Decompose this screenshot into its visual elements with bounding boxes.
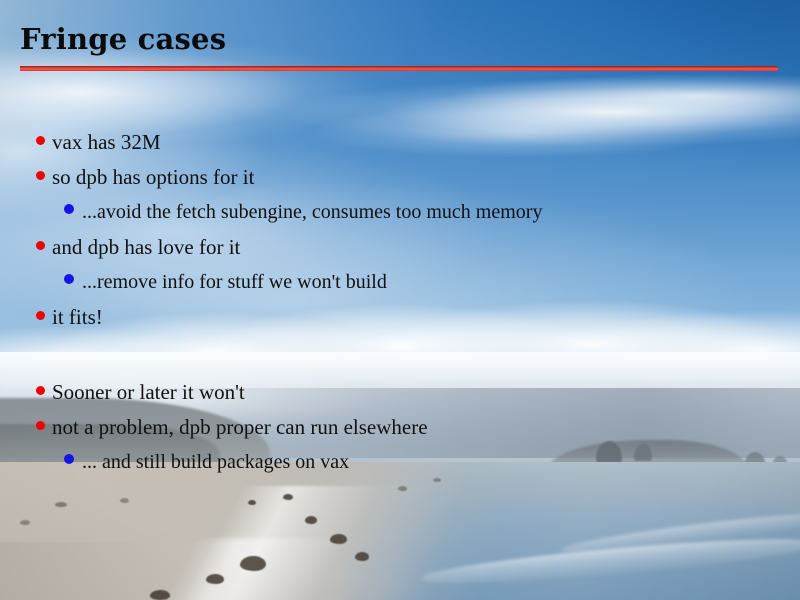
title-underline-rule (20, 66, 778, 71)
bullet-text: ...avoid the fetch subengine, consumes t… (82, 202, 542, 222)
bullet-item: ...avoid the fetch subengine, consumes t… (64, 202, 542, 222)
bullet-marker-red-icon (36, 311, 45, 320)
bullet-item: not a problem, dpb proper can run elsewh… (36, 417, 428, 438)
bullet-item: and dpb has love for it (36, 237, 240, 258)
bullet-marker-red-icon (36, 241, 45, 250)
bullet-text: it fits! (52, 307, 103, 328)
slide-title: Fringe cases (20, 22, 226, 56)
bullet-marker-blue-icon (64, 204, 74, 214)
bullet-marker-red-icon (36, 421, 45, 430)
bullet-marker-red-icon (36, 171, 45, 180)
bullet-marker-red-icon (36, 386, 45, 395)
bullet-marker-blue-icon (64, 454, 74, 464)
bullet-text: so dpb has options for it (52, 167, 254, 188)
bullet-text: and dpb has love for it (52, 237, 240, 258)
bullet-item: ...remove info for stuff we won't build (64, 272, 387, 292)
presentation-slide: Fringe cases vax has 32Mso dpb has optio… (0, 0, 800, 600)
bullet-text: ...remove info for stuff we won't build (82, 272, 387, 292)
bullet-text: not a problem, dpb proper can run elsewh… (52, 417, 428, 438)
bullet-marker-blue-icon (64, 274, 74, 284)
bullet-item: vax has 32M (36, 132, 161, 153)
bullet-text: Sooner or later it won't (52, 382, 245, 403)
bullet-text: vax has 32M (52, 132, 161, 153)
bullet-item: it fits! (36, 307, 103, 328)
bullet-item: Sooner or later it won't (36, 382, 245, 403)
bullet-item: ... and still build packages on vax (64, 452, 349, 472)
bullet-marker-red-icon (36, 136, 45, 145)
bullet-item: so dpb has options for it (36, 167, 254, 188)
bullet-text: ... and still build packages on vax (82, 452, 349, 472)
slide-content: Fringe cases vax has 32Mso dpb has optio… (0, 0, 800, 600)
